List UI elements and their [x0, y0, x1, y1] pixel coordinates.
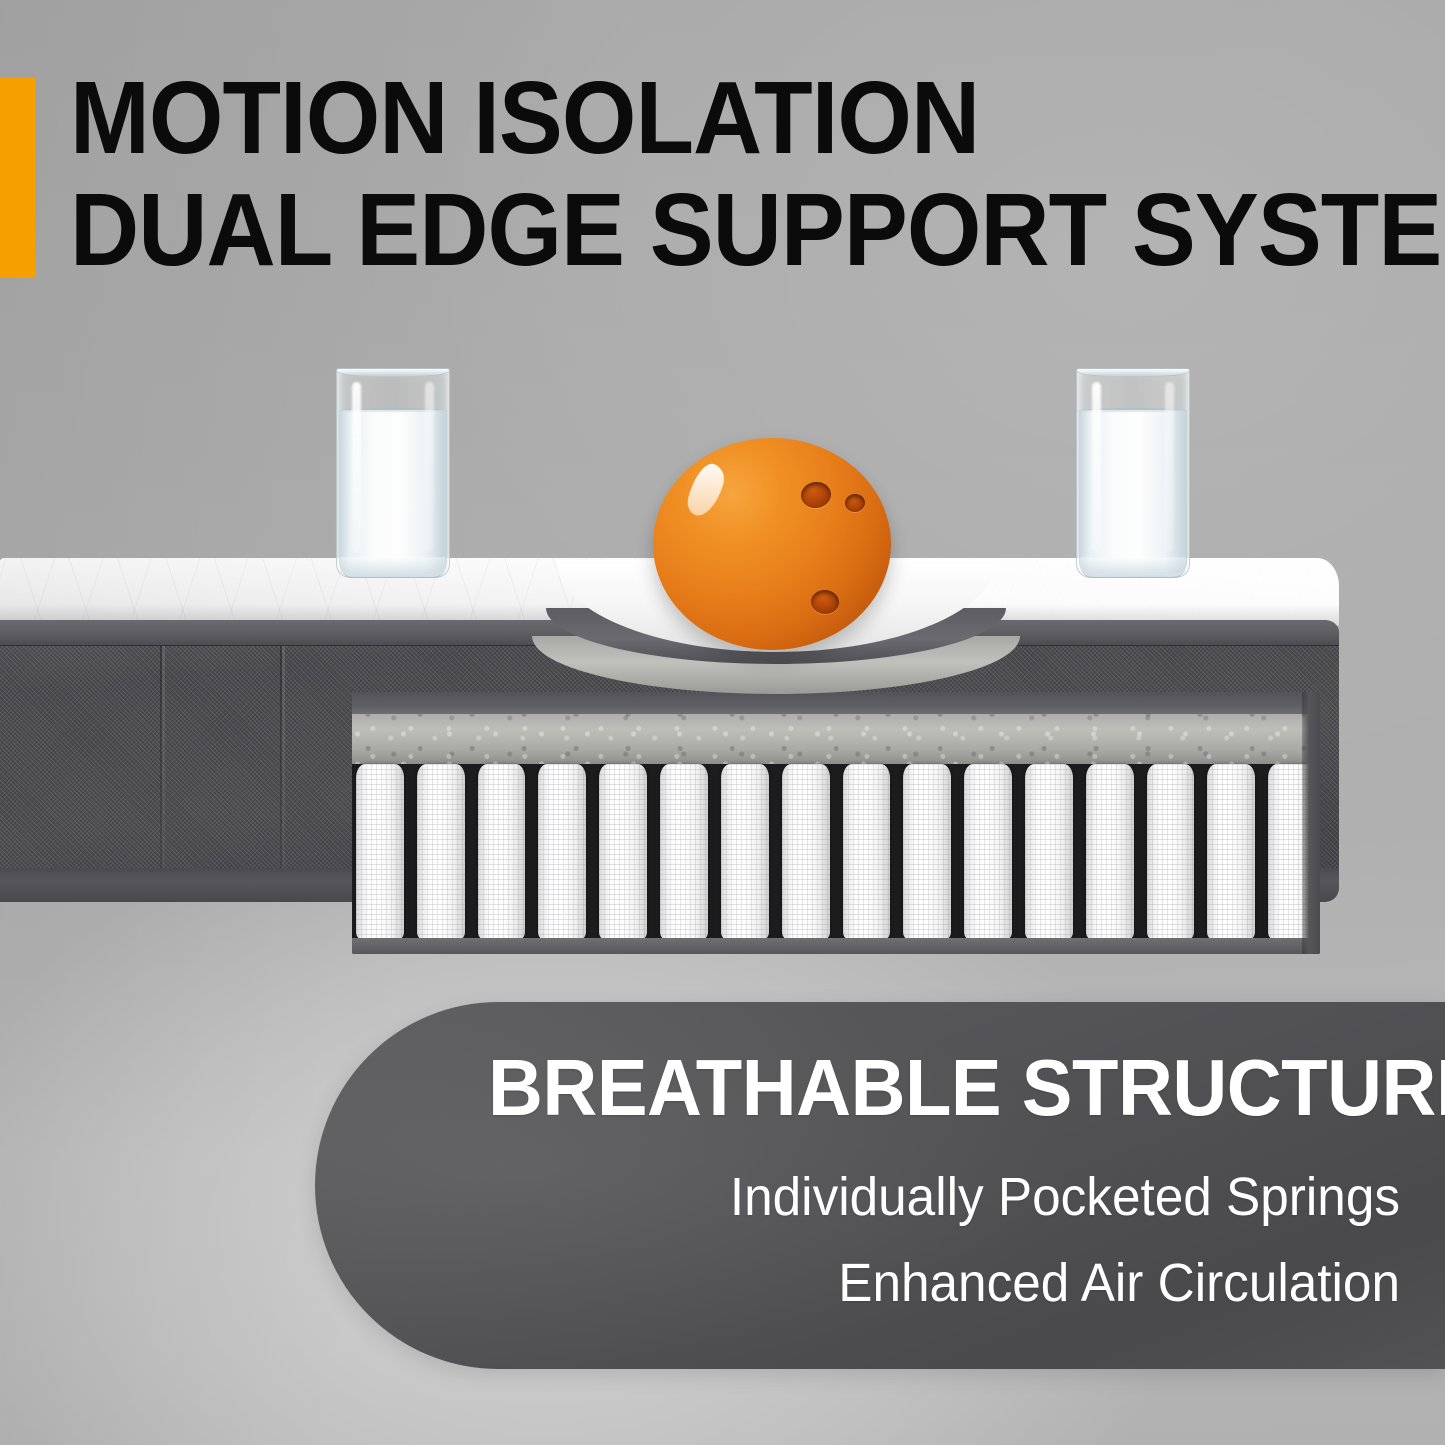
- glass-base: [1080, 557, 1186, 578]
- glass-highlight: [1165, 382, 1174, 552]
- pocket-spring: [964, 764, 1012, 940]
- pocket-spring: [782, 764, 830, 940]
- pocket-spring: [1025, 764, 1073, 940]
- pocket-spring: [356, 764, 404, 940]
- cutaway-right-frame: [1302, 692, 1320, 954]
- fabric-seam: [160, 646, 162, 868]
- pocket-spring: [843, 764, 891, 940]
- pocket-spring: [903, 764, 951, 940]
- pocket-spring: [660, 764, 708, 940]
- water-glass-right: [1076, 368, 1190, 578]
- pocket-spring: [599, 764, 647, 940]
- glass-base: [340, 557, 446, 578]
- headline-line-1: MOTION ISOLATION: [70, 62, 1298, 174]
- glass-rim: [1076, 368, 1190, 377]
- pocket-spring: [1086, 764, 1134, 940]
- spring-cutaway-window: [352, 692, 1320, 954]
- bowling-ball: [653, 438, 891, 650]
- panel-subtitle-2: Enhanced Air Circulation: [488, 1240, 1400, 1326]
- pocket-spring: [478, 764, 526, 940]
- pocket-spring: [538, 764, 586, 940]
- product-feature-image: MOTION ISOLATION DUAL EDGE SUPPORT SYSTE…: [0, 0, 1445, 1445]
- glass-highlight: [352, 382, 361, 552]
- glass-rim: [336, 368, 450, 377]
- panel-title: BREATHABLE STRUCTURE: [488, 1046, 1400, 1130]
- water-glass-left: [336, 368, 450, 578]
- cutaway-floor: [352, 938, 1320, 954]
- pocket-spring: [1147, 764, 1195, 940]
- fabric-seam: [280, 646, 282, 868]
- headline-line-2: DUAL EDGE SUPPORT SYSTEM: [70, 174, 1298, 286]
- pocket-spring: [417, 764, 465, 940]
- bowling-ball-icon: [653, 438, 891, 650]
- headline: MOTION ISOLATION DUAL EDGE SUPPORT SYSTE…: [70, 62, 1298, 286]
- panel-text-block: BREATHABLE STRUCTURE Individually Pocket…: [440, 1046, 1400, 1326]
- glass-highlight: [425, 382, 434, 552]
- panel-subtitle-1: Individually Pocketed Springs: [488, 1154, 1400, 1240]
- pocket-spring: [1207, 764, 1255, 940]
- orange-accent-bar: [0, 78, 35, 278]
- glass-highlight: [1092, 382, 1101, 552]
- comfort-foam-layer: [352, 692, 1320, 764]
- pocket-spring-row: [352, 764, 1320, 940]
- foam-dark-cap: [352, 692, 1320, 714]
- mattress-side-fabric: [0, 620, 1339, 902]
- breathable-structure-panel: BREATHABLE STRUCTURE Individually Pocket…: [315, 1002, 1445, 1369]
- pocket-spring: [721, 764, 769, 940]
